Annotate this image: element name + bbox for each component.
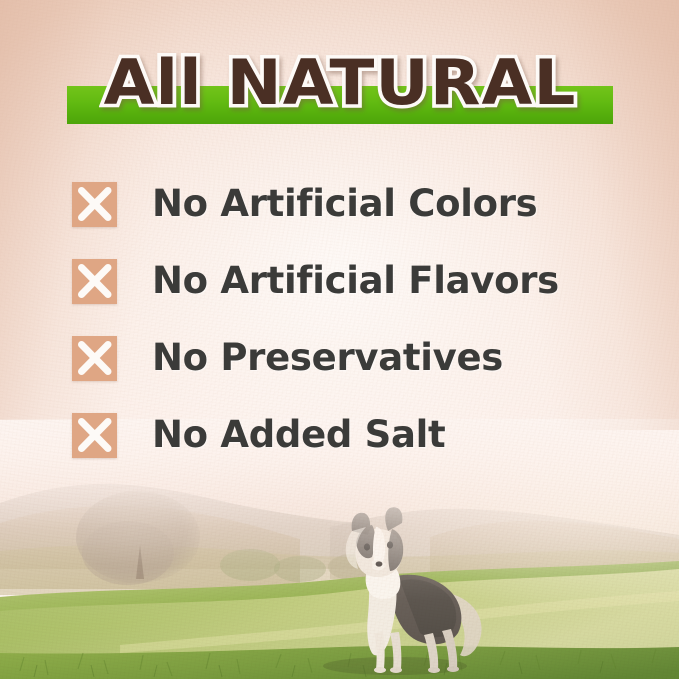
feature-row: No Artificial Flavors: [72, 259, 632, 336]
feature-label: No Artificial Flavors: [152, 255, 559, 307]
feature-list: No Artificial Colors No Artificial Flavo…: [72, 182, 632, 490]
x-mark-icon: [72, 182, 117, 227]
feature-row: No Preservatives: [72, 336, 632, 413]
feature-label: No Added Salt: [152, 409, 445, 461]
x-mark-icon: [72, 413, 117, 458]
x-mark-icon: [72, 259, 117, 304]
feature-label: No Artificial Colors: [152, 178, 537, 230]
x-mark-icon: [72, 336, 117, 381]
headline-text: All NATURAL: [103, 50, 576, 116]
headline-container: All NATURAL: [0, 50, 679, 116]
feature-row: No Added Salt: [72, 413, 632, 490]
feature-label: No Preservatives: [152, 332, 503, 384]
feature-row: No Artificial Colors: [72, 182, 632, 259]
product-feature-poster: All NATURAL No Artificial Colors No Arti…: [0, 0, 679, 679]
